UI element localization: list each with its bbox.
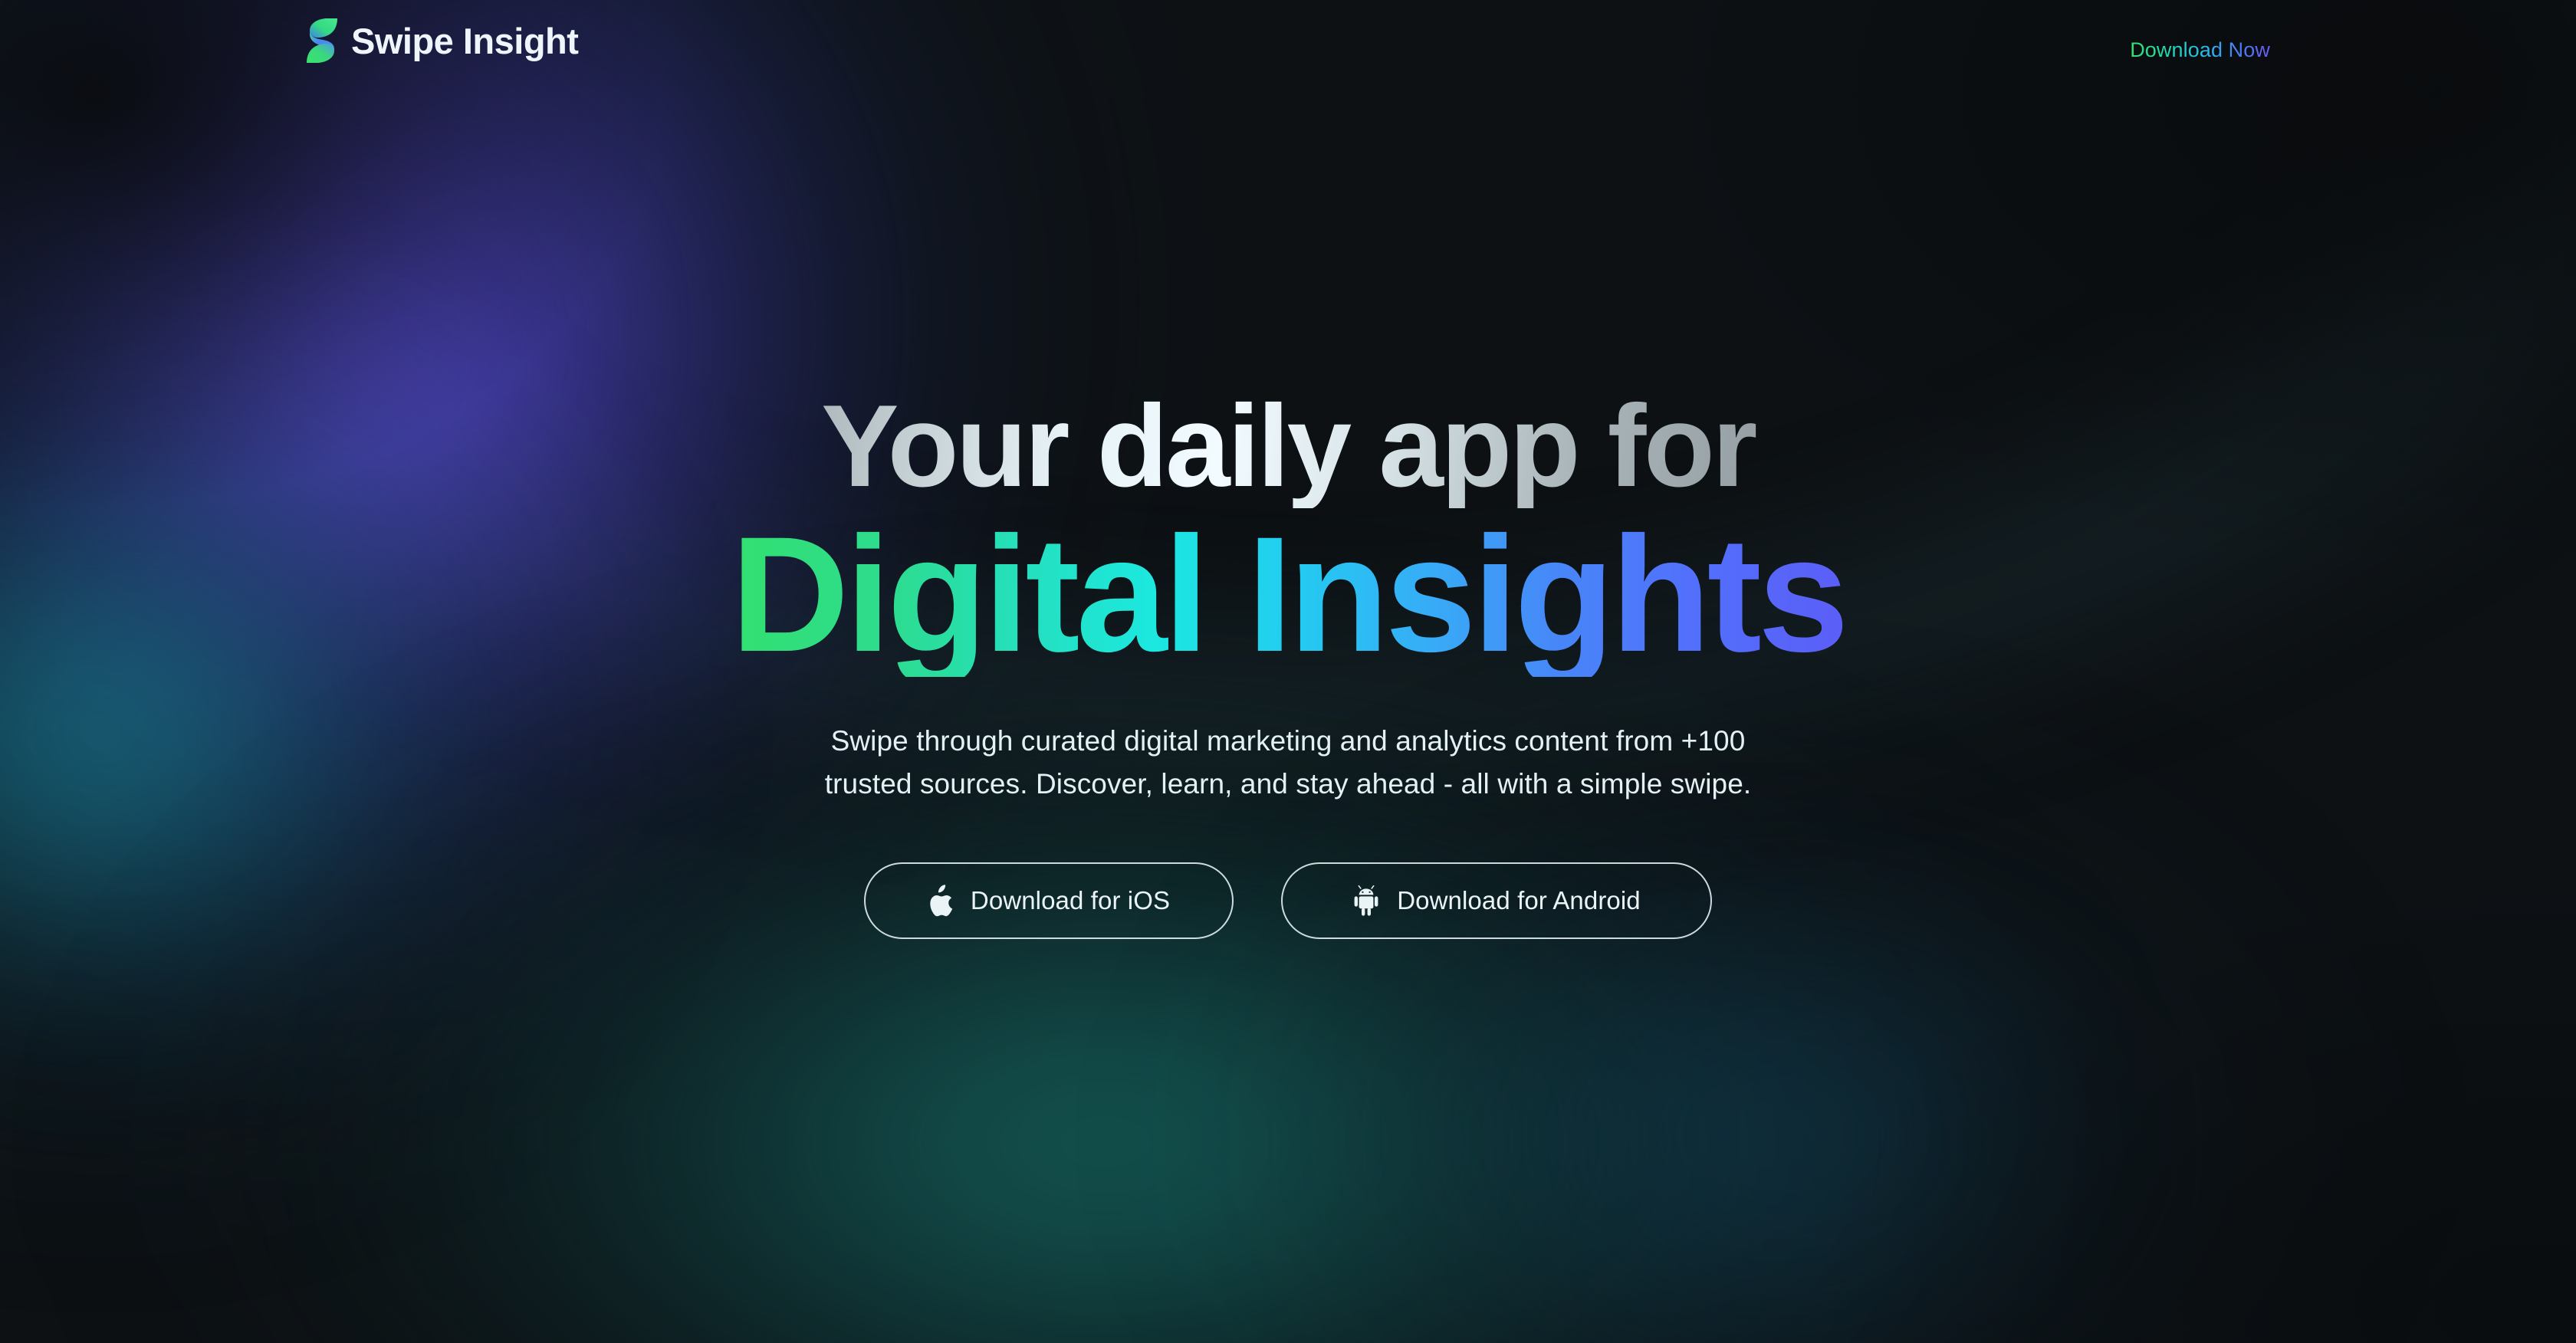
- hero-subtitle-line-2: trusted sources. Discover, learn, and st…: [744, 763, 1832, 806]
- landing-page: Swipe Insight Download Now Your daily ap…: [0, 0, 2576, 1343]
- download-android-label: Download for Android: [1397, 886, 1641, 915]
- download-android-button[interactable]: Download for Android: [1281, 862, 1712, 939]
- hero-section: Your daily app for Digital Insights Swip…: [0, 0, 2576, 1343]
- download-ios-button[interactable]: Download for iOS: [864, 862, 1234, 939]
- headline-line-2: Digital Insights: [731, 513, 1845, 677]
- hero-subtitle-line-1: Swipe through curated digital marketing …: [744, 720, 1832, 763]
- headline-line-1: Your daily app for: [731, 385, 1845, 508]
- hero-subtitle: Swipe through curated digital marketing …: [744, 720, 1832, 806]
- site-header: Swipe Insight Download Now: [0, 0, 2576, 104]
- apple-icon: [928, 885, 954, 917]
- brand-name: Swipe Insight: [351, 23, 578, 59]
- nav-download-now-link[interactable]: Download Now: [2130, 38, 2270, 62]
- page-title: Your daily app for Digital Insights: [731, 385, 1845, 677]
- android-icon: [1352, 885, 1380, 916]
- brand-logo-link[interactable]: Swipe Insight: [305, 17, 578, 64]
- download-button-row: Download for iOS: [864, 862, 1712, 939]
- download-ios-label: Download for iOS: [971, 886, 1170, 915]
- swipe-s-logo-icon: [305, 17, 339, 64]
